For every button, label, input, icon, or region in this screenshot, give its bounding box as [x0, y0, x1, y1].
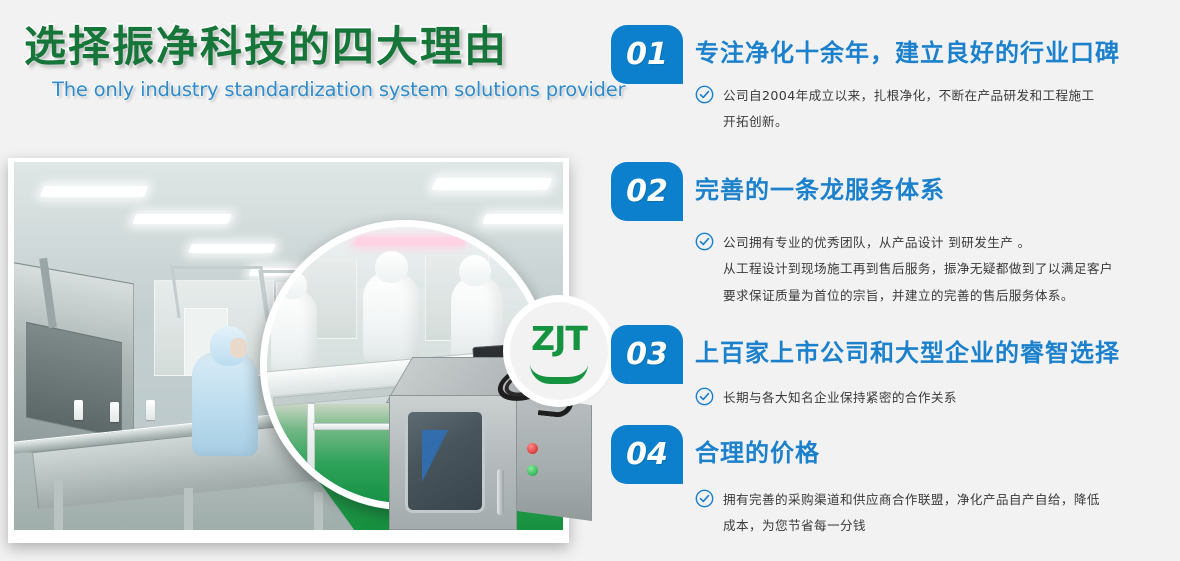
reason-number: 02: [626, 177, 668, 207]
passbox-green-indicator: [527, 465, 538, 476]
body-line: 公司自2004年成立以来，扎根净化，不断在产品研发和工程施工: [723, 83, 1095, 109]
worker-hood: [279, 271, 307, 299]
ceiling-lamp: [432, 178, 553, 190]
ceiling-lamp: [188, 244, 276, 253]
machine-hopper: [26, 322, 122, 438]
body-line: 开拓创新。: [723, 109, 1095, 135]
reason-body-04: 拥有完善的采购渠道和供应商合作联盟，净化产品自产自给，降低 成本，为您节省每一分…: [695, 487, 1165, 540]
reason-body-text-02: 公司拥有专业的优秀团队，从产品设计 到研发生产 。 从工程设计到现场施工再到售后…: [723, 230, 1113, 309]
ceiling-lamp: [132, 214, 232, 224]
reason-title-04: 合理的价格: [695, 433, 820, 468]
check-circle-icon: [695, 232, 714, 251]
check-circle-icon: [695, 85, 714, 104]
worker-face: [230, 338, 247, 358]
bottle: [110, 402, 119, 422]
page-subtitle: The only industry standardization system…: [52, 78, 604, 101]
body-line: 从工程设计到现场施工再到售后服务，振净无疑都做到了以满足客户: [723, 256, 1113, 282]
worker-white-suit: [271, 289, 317, 375]
reason-number: 03: [626, 340, 668, 370]
inset-ceiling-lamp: [353, 237, 467, 246]
reason-body-02: 公司拥有专业的优秀团队，从产品设计 到研发生产 。 从工程设计到现场施工再到售后…: [695, 230, 1165, 309]
reason-body-text-04: 拥有完善的采购渠道和供应商合作联盟，净化产品自产自给，降低 成本，为您节省每一分…: [723, 487, 1100, 540]
bench-leg: [307, 403, 315, 473]
body-line: 公司拥有专业的优秀团队，从产品设计 到研发生产 。: [723, 230, 1113, 256]
promo-banner: 选择振净科技的四大理由 The only industry standardiz…: [0, 0, 1180, 561]
bottle: [74, 400, 83, 420]
reason-badge-02: 02: [611, 162, 683, 221]
conveyor-leg: [184, 488, 193, 530]
machine-frame: [170, 266, 269, 318]
page-title: 选择振净科技的四大理由: [24, 22, 604, 72]
reason-body-03: 长期与各大知名企业保持紧密的合作关系: [695, 385, 1165, 411]
passbox-window: [405, 409, 485, 513]
reason-title-02: 完善的一条龙服务体系: [695, 170, 945, 205]
worker-white-suit: [363, 271, 419, 363]
reason-number: 01: [626, 40, 668, 70]
conveyor-leg: [54, 480, 63, 530]
passbox-red-indicator: [527, 443, 538, 454]
worker-hood: [459, 255, 491, 286]
reason-title-01: 专注净化十余年，建立良好的行业口碑: [695, 33, 1120, 68]
reason-number: 04: [626, 440, 668, 470]
reason-body-01: 公司自2004年成立以来，扎根净化，不断在产品研发和工程施工 开拓创新。: [695, 83, 1165, 136]
reason-badge-03: 03: [611, 325, 683, 384]
passbox-handle: [497, 469, 504, 515]
reasons-list: 01 专注净化十余年，建立良好的行业口碑 公司自2004年成立以来，扎根净化，不…: [611, 0, 1180, 561]
body-line: 拥有完善的采购渠道和供应商合作联盟，净化产品自产自给，降低: [723, 487, 1100, 513]
check-circle-icon: [695, 489, 714, 508]
reason-badge-01: 01: [611, 25, 683, 84]
zjt-smile-arc: [530, 364, 588, 384]
reason-badge-04: 04: [611, 425, 683, 484]
body-line: 要求保证质量为首位的宗旨，并建立的完善的售后服务体系。: [723, 283, 1113, 309]
zjt-logo-text: ZJT: [531, 322, 587, 355]
body-line: 长期与各大知名企业保持紧密的合作关系: [723, 385, 957, 411]
reason-title-03: 上百家上市公司和大型企业的睿智选择: [695, 333, 1120, 368]
check-circle-icon: [695, 387, 714, 406]
worker-blue-gown: [192, 352, 258, 456]
worker-hood: [375, 251, 408, 283]
ceiling-lamp: [40, 186, 148, 197]
heading-block: 选择振净科技的四大理由 The only industry standardiz…: [24, 22, 604, 101]
reason-body-text-03: 长期与各大知名企业保持紧密的合作关系: [723, 385, 957, 411]
ceiling-lamp: [482, 214, 563, 224]
bottle: [146, 400, 155, 420]
body-line: 成本，为您节省每一分钱: [723, 513, 1100, 539]
reason-body-text-01: 公司自2004年成立以来，扎根净化，不断在产品研发和工程施工 开拓创新。: [723, 83, 1095, 136]
photo-composition: ZJT: [4, 152, 604, 552]
zjt-logo: ZJT: [510, 302, 608, 400]
